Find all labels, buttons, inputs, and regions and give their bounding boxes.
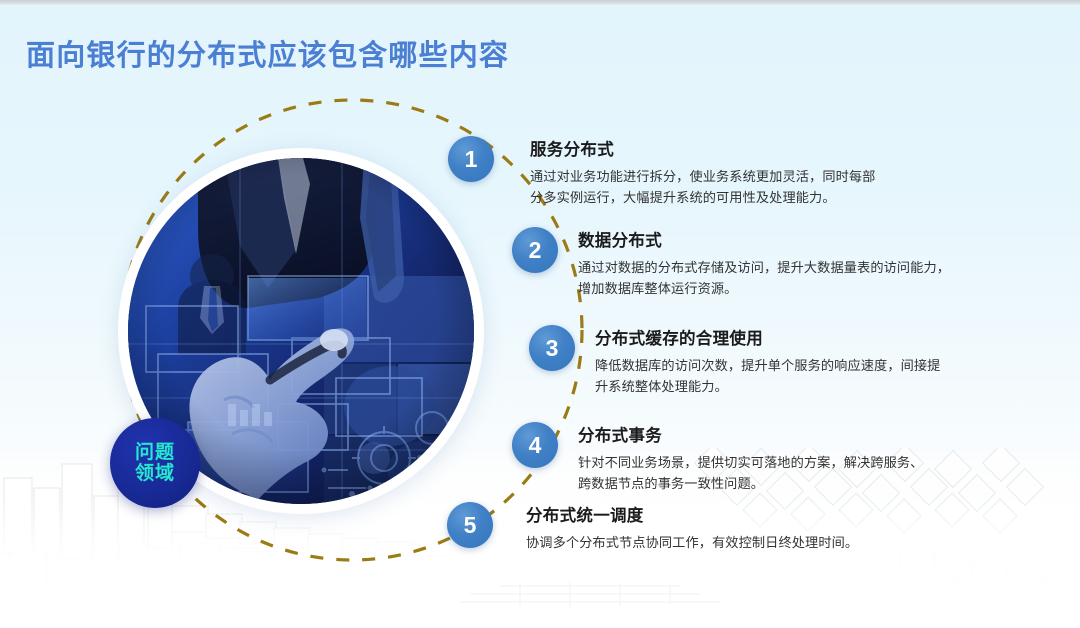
step-text-5: 分布式统一调度 协调多个分布式节点协同工作，有效控制日终处理时间。 [526, 506, 996, 553]
problem-domain-line1: 问题 [135, 442, 175, 463]
step-text-2: 数据分布式 通过对数据的分布式存储及访问，提升大数据量表的访问能力， 增加数据库… [578, 231, 1048, 299]
step-text-1: 服务分布式 通过对业务功能进行拆分，使业务系统更加灵活，同时每部 分多实例运行，… [530, 140, 1030, 208]
step-text-3: 分布式缓存的合理使用 降低数据库的访问次数，提升单个服务的响应速度，间接提 升系… [595, 329, 1045, 397]
step-number-5: 5 [447, 502, 493, 548]
step-number-3: 3 [529, 325, 575, 371]
step-body-5: 协调多个分布式节点协同工作，有效控制日终处理时间。 [526, 532, 996, 553]
step-body-1: 通过对业务功能进行拆分，使业务系统更加灵活，同时每部 分多实例运行，大幅提升系统… [530, 166, 1030, 209]
slide-canvas: 面向银行的分布式应该包含哪些内容 [0, 0, 1080, 628]
step-heading-4: 分布式事务 [578, 426, 1038, 447]
step-heading-5: 分布式统一调度 [526, 506, 996, 527]
step-number-2: 2 [512, 227, 558, 273]
step-number-1: 1 [448, 136, 494, 182]
step-heading-1: 服务分布式 [530, 140, 1030, 161]
step-body-4: 针对不同业务场景，提供切实可落地的方案，解决跨服务、 跨数据节点的事务一致性问题… [578, 452, 1038, 495]
problem-domain-line2: 领域 [135, 463, 175, 484]
step-text-4: 分布式事务 针对不同业务场景，提供切实可落地的方案，解决跨服务、 跨数据节点的事… [578, 426, 1038, 494]
top-edge-strip [0, 0, 1080, 5]
problem-domain-badge[interactable]: 问题 领域 [110, 418, 200, 508]
step-body-3: 降低数据库的访问次数，提升单个服务的响应速度，间接提 升系统整体处理能力。 [595, 355, 1045, 398]
step-number-4: 4 [512, 422, 558, 468]
step-heading-3: 分布式缓存的合理使用 [595, 329, 1045, 350]
page-title: 面向银行的分布式应该包含哪些内容 [26, 32, 509, 74]
step-body-2: 通过对数据的分布式存储及访问，提升大数据量表的访问能力， 增加数据库整体运行资源… [578, 257, 1048, 300]
step-heading-2: 数据分布式 [578, 231, 1048, 252]
